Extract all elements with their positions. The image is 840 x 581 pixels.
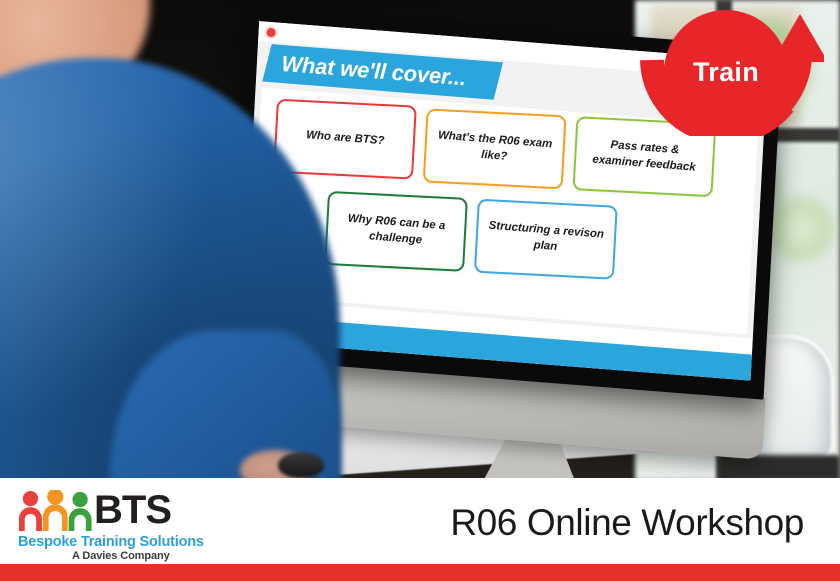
topic-box-revision-plan: Structuring a revison plan — [474, 199, 618, 280]
train-badge: Train — [624, 8, 824, 136]
footer-title: R06 Online Workshop — [450, 502, 804, 544]
people-group-icon — [16, 490, 106, 532]
topic-box-label: Pass rates & examiner feedback — [576, 136, 713, 178]
bts-logo[interactable]: BTS Bespoke Training Solutions A Davies … — [16, 490, 216, 556]
promo-image: Live What we'll cover... Who are BTS? — [0, 0, 840, 581]
foliage — [766, 196, 836, 262]
logo-tagline: Bespoke Training Solutions — [18, 534, 204, 550]
logo-subtagline: A Davies Company — [72, 550, 170, 562]
topic-box-label: Structuring a revison plan — [477, 218, 614, 260]
train-badge-label: Train — [693, 57, 759, 88]
footer-accent-bar — [0, 564, 840, 581]
photo-scene: Live What we'll cover... Who are BTS? — [0, 0, 840, 481]
computer-mouse — [278, 452, 324, 478]
train-badge-circle: Train — [664, 10, 788, 134]
person-foreground — [0, 0, 370, 481]
topic-box-exam-like: What's the R06 exam like? — [423, 108, 567, 189]
logo-wordmark: BTS — [94, 488, 171, 532]
topic-box-label: What's the R06 exam like? — [426, 128, 563, 170]
